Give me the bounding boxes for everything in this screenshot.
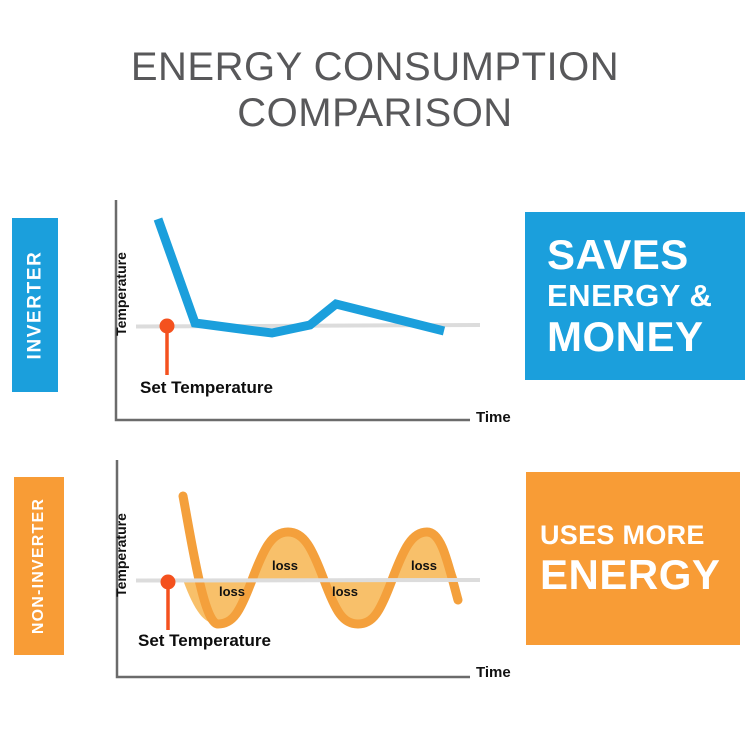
set-temperature-label-non-inverter: Set Temperature [138, 631, 271, 651]
callout-uses-line-2: ENERGY [540, 552, 740, 598]
section-tab-non-inverter-label: NON-INVERTER [30, 498, 48, 634]
page-title-line-2: COMPARISON [0, 90, 750, 136]
inverter-temperature-line [158, 219, 444, 333]
set-temperature-label-inverter: Set Temperature [140, 378, 273, 398]
loss-label-1: loss [219, 584, 245, 599]
loss-label-4: loss [411, 558, 437, 573]
page-title: ENERGY CONSUMPTION COMPARISON [0, 44, 750, 136]
section-tab-inverter-label: INVERTER [24, 251, 46, 360]
callout-uses-more-energy: USES MORE ENERGY [526, 472, 740, 645]
callout-uses-line-1: USES MORE [540, 519, 740, 552]
loss-label-2: loss [272, 558, 298, 573]
loss-label-3: loss [332, 584, 358, 599]
callout-saves-line-1: SAVES [547, 232, 745, 278]
set-temperature-line-non-inverter [136, 578, 480, 583]
callout-saves-line-3: MONEY [547, 314, 745, 360]
section-tab-inverter: INVERTER [12, 218, 58, 392]
set-temperature-marker-inverter [160, 319, 175, 334]
set-temperature-marker-non-inverter [161, 575, 176, 590]
section-tab-non-inverter: NON-INVERTER [14, 477, 64, 655]
infographic-root: ENERGY CONSUMPTION COMPARISON INVERTER T… [0, 0, 750, 750]
chart-non-inverter: loss loss loss loss Temperature Time Set… [100, 452, 500, 694]
callout-saves-energy-money: SAVES ENERGY & MONEY [525, 212, 745, 380]
callout-saves-line-2: ENERGY & [547, 278, 745, 314]
page-title-line-1: ENERGY CONSUMPTION [0, 44, 750, 90]
y-axis-label-inverter: Temperature [113, 244, 129, 344]
y-axis-label-non-inverter: Temperature [113, 505, 129, 605]
chart-inverter: Temperature Time Set Temperature [100, 193, 500, 433]
x-axis-label-inverter: Time [476, 409, 511, 426]
chart-non-inverter-svg [100, 452, 500, 694]
x-axis-label-non-inverter: Time [476, 664, 511, 681]
